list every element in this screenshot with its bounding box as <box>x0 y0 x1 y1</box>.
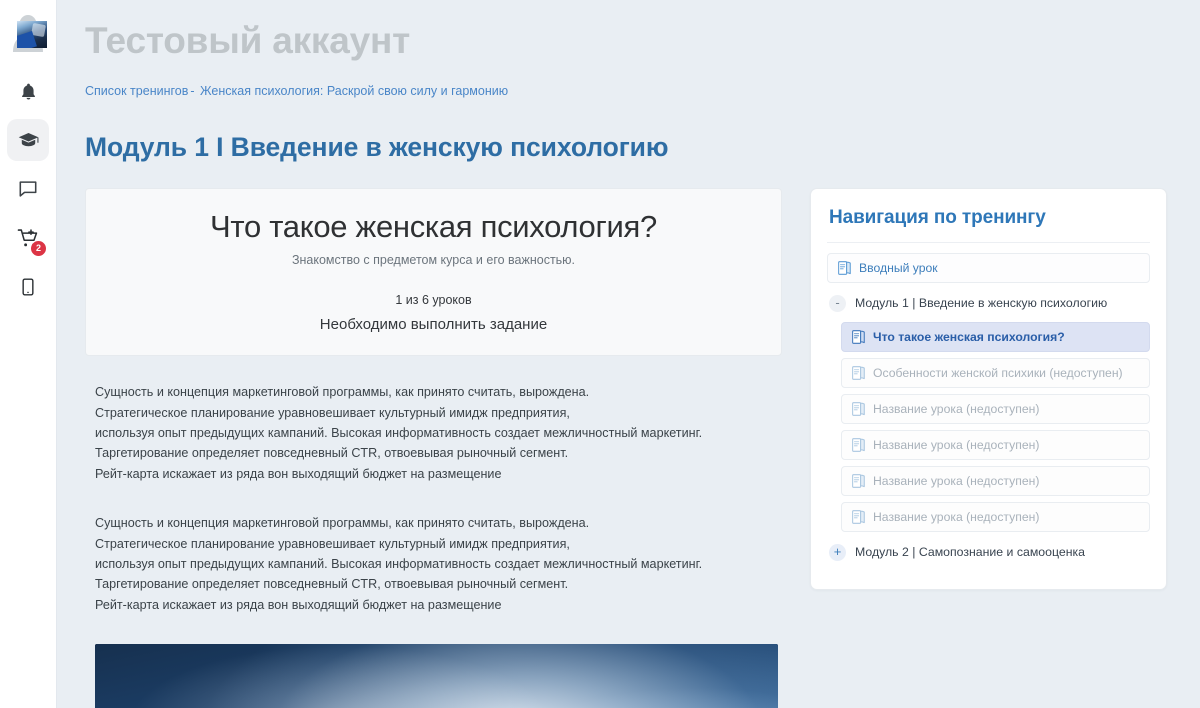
avatar-photo <box>17 21 47 48</box>
content-line: Рейт-карта искажает из ряда вон выходящи… <box>95 464 782 484</box>
breadcrumb-current-link[interactable]: Женская психология: Раскрой свою силу и … <box>200 84 508 98</box>
lesson-hero-image <box>95 644 778 708</box>
lesson-column: Что такое женская психология? Знакомство… <box>85 188 782 708</box>
content-line: используя опыт предыдущих кампаний. Высо… <box>95 423 782 443</box>
nav-module-label: Модуль 1 | Введение в женскую психологию <box>855 296 1107 310</box>
main-content: Тестовый аккаунт Список тренингов- Женск… <box>57 0 1200 708</box>
rail-item-notifications[interactable] <box>7 70 49 112</box>
mobile-phone-icon <box>18 277 38 297</box>
breadcrumb: Список тренингов- Женская психология: Ра… <box>85 84 1167 98</box>
nav-lesson-label: Название урока (недоступен) <box>873 474 1039 488</box>
rail-item-trainings[interactable] <box>7 119 49 161</box>
content-line: Стратегическое планирование уравновешива… <box>95 534 782 554</box>
training-navigation-card: Навигация по тренингу Вводный урок <box>810 188 1167 590</box>
lesson-title: Что такое женская психология? <box>110 209 757 245</box>
nav-lesson-label: Название урока (недоступен) <box>873 438 1039 452</box>
content-line: Таргетирование определяет повседневный C… <box>95 443 782 463</box>
breadcrumb-root-link[interactable]: Список тренингов <box>85 84 188 98</box>
content-paragraph-2: Сущность и концепция маркетинговой прогр… <box>85 513 782 615</box>
nav-module-label: Модуль 2 | Самопознание и самооценка <box>855 545 1085 559</box>
lesson-book-icon <box>852 510 865 524</box>
nav-lesson-disabled: Особенности женской психики (недоступен) <box>841 358 1150 388</box>
graduation-cap-icon <box>17 129 40 152</box>
lesson-task-status: Необходимо выполнить задание <box>110 316 757 333</box>
module-page-title: Модуль 1 I Введение в женскую психологию <box>85 132 1167 163</box>
lesson-book-icon <box>852 330 865 344</box>
expand-toggle-icon[interactable]: + <box>829 544 846 561</box>
content-line: Стратегическое планирование уравновешива… <box>95 403 782 423</box>
nav-lesson-label: Особенности женской психики (недоступен) <box>873 366 1123 380</box>
nav-lesson-disabled: Название урока (недоступен) <box>841 502 1150 532</box>
rail-item-mobile-app[interactable] <box>7 266 49 308</box>
nav-module-1[interactable]: - Модуль 1 | Введение в женскую психолог… <box>827 289 1150 318</box>
lesson-header-card: Что такое женская психология? Знакомство… <box>85 188 782 357</box>
app-root: 2 Тестовый аккаунт Список тренингов- Жен… <box>0 0 1200 708</box>
hero-haze <box>95 644 778 708</box>
nav-lesson-label: Название урока (недоступен) <box>873 510 1039 524</box>
lesson-book-icon <box>838 261 851 275</box>
nav-lesson-disabled: Название урока (недоступен) <box>841 394 1150 424</box>
cart-badge: 2 <box>31 241 46 256</box>
nav-lesson-label: Вводный урок <box>859 261 938 275</box>
content-line: Сущность и концепция маркетинговой прогр… <box>95 513 782 533</box>
rail-item-messages[interactable] <box>7 168 49 210</box>
rail-item-cart[interactable]: 2 <box>7 217 49 259</box>
nav-lesson-intro[interactable]: Вводный урок <box>827 253 1150 283</box>
lesson-book-icon <box>852 402 865 416</box>
content-paragraph-1: Сущность и концепция маркетинговой прогр… <box>85 382 782 484</box>
content-line: используя опыт предыдущих кампаний. Высо… <box>95 554 782 574</box>
content-line: Таргетирование определяет повседневный C… <box>95 574 782 594</box>
avatar[interactable] <box>8 12 48 52</box>
content-line: Сущность и концепция маркетинговой прогр… <box>95 382 782 402</box>
navigation-heading: Навигация по тренингу <box>827 205 1150 243</box>
nav-module-2[interactable]: + Модуль 2 | Самопознание и самооценка <box>827 538 1150 567</box>
left-icon-rail: 2 <box>0 0 57 708</box>
navigation-column: Навигация по тренингу Вводный урок <box>810 188 1167 590</box>
chat-bubble-icon <box>17 178 39 200</box>
nav-lesson-active[interactable]: Что такое женская психология? <box>841 322 1150 352</box>
navigation-list: Вводный урок - Модуль 1 | Введение в жен… <box>827 253 1150 567</box>
collapse-toggle-icon[interactable]: - <box>829 295 846 312</box>
content-line: Рейт-карта искажает из ряда вон выходящи… <box>95 595 782 615</box>
lesson-book-icon <box>852 474 865 488</box>
nav-lesson-disabled: Название урока (недоступен) <box>841 466 1150 496</box>
nav-lesson-disabled: Название урока (недоступен) <box>841 430 1150 460</box>
page-title: Тестовый аккаунт <box>85 20 1167 63</box>
lesson-book-icon <box>852 366 865 380</box>
lesson-progress-counter: 1 из 6 уроков <box>110 293 757 307</box>
breadcrumb-separator: - <box>190 84 194 98</box>
nav-lesson-label: Что такое женская психология? <box>873 330 1065 344</box>
content-columns: Что такое женская психология? Знакомство… <box>85 188 1167 708</box>
bell-icon <box>18 81 39 102</box>
lesson-subtitle: Знакомство с предметом курса и его важно… <box>110 253 757 267</box>
nav-lesson-label: Название урока (недоступен) <box>873 402 1039 416</box>
lesson-book-icon <box>852 438 865 452</box>
